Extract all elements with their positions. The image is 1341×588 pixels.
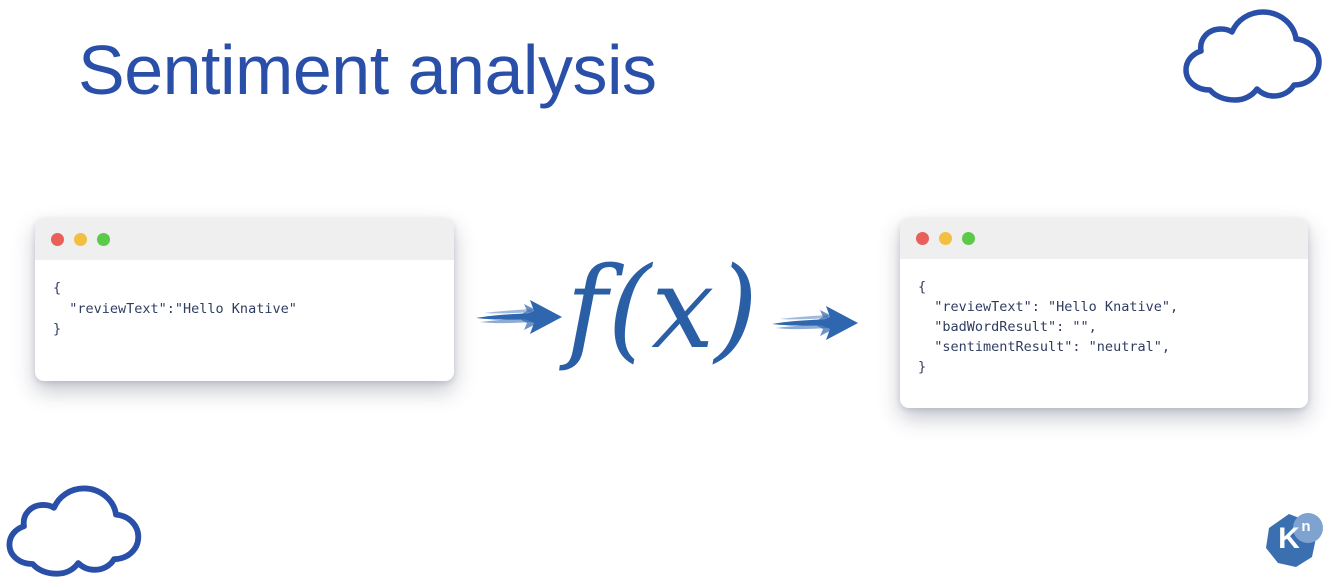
knative-logo-letter-n: n [1292, 512, 1320, 540]
cloud-icon-bottom-left [0, 483, 147, 588]
output-window-titlebar [900, 218, 1308, 259]
arrow-right-icon-input [474, 296, 566, 343]
cloud-icon-top-right [1168, 8, 1328, 113]
output-json-code: { "reviewText": "Hello Knative", "badWor… [918, 277, 1290, 377]
input-code-window: { "reviewText":"Hello Knative" } [35, 218, 454, 381]
input-window-body: { "reviewText":"Hello Knative" } [35, 260, 454, 354]
arrow-right-icon-output [770, 302, 862, 349]
close-button-icon[interactable] [51, 233, 64, 246]
input-window-titlebar [35, 218, 454, 260]
maximize-button-icon[interactable] [962, 232, 975, 245]
minimize-button-icon[interactable] [74, 233, 87, 246]
close-button-icon[interactable] [916, 232, 929, 245]
function-symbol: f(x) [566, 244, 756, 374]
minimize-button-icon[interactable] [939, 232, 952, 245]
knative-logo: K n [1262, 512, 1328, 578]
output-window-body: { "reviewText": "Hello Knative", "badWor… [900, 259, 1308, 391]
page-title: Sentiment analysis [78, 28, 657, 112]
maximize-button-icon[interactable] [97, 233, 110, 246]
input-json-code: { "reviewText":"Hello Knative" } [53, 278, 436, 340]
output-code-window: { "reviewText": "Hello Knative", "badWor… [900, 218, 1308, 408]
